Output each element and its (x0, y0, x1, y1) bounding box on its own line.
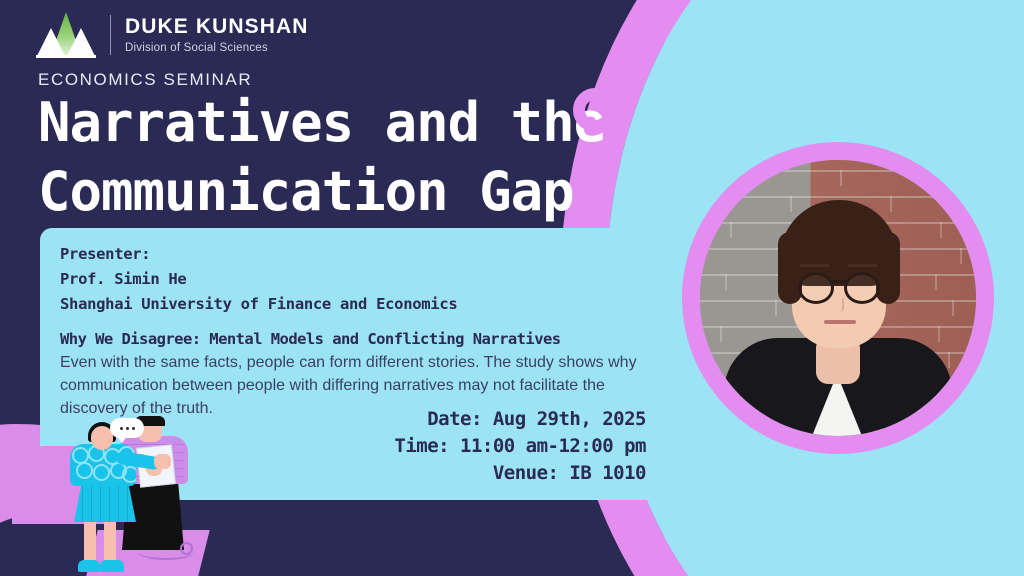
event-venue: Venue: IB 1010 (394, 460, 646, 487)
presenter-block: Presenter: Prof. Simin He Shanghai Unive… (60, 242, 646, 317)
duke-kunshan-mountain-logo-icon (36, 12, 96, 58)
event-time: Time: 11:00 am-12:00 pm (394, 433, 646, 460)
title-line-2: Communication Gap (38, 157, 638, 226)
presenter-label: Presenter: (60, 242, 646, 267)
eyebrow-label: ECONOMICS SEMINAR (38, 70, 252, 90)
glasses-icon (798, 272, 834, 304)
logo-divider (110, 15, 111, 55)
pink-ring-decoration-icon (573, 88, 617, 132)
brand-division: Division of Social Sciences (125, 42, 309, 54)
title-line-1: Narratives and the (38, 88, 638, 157)
brand-logo: DUKE KUNSHAN Division of Social Sciences (36, 12, 309, 58)
event-date: Date: Aug 29th, 2025 (394, 406, 646, 433)
page-title: Narratives and the Communication Gap (38, 88, 638, 226)
two-people-conversation-illustration-icon (34, 418, 204, 576)
talk-title: Why We Disagree: Mental Models and Confl… (60, 330, 646, 348)
brand-wordmark: DUKE KUNSHAN Division of Social Sciences (125, 16, 309, 53)
logistics-block: Date: Aug 29th, 2025 Time: 11:00 am-12:0… (394, 406, 646, 487)
speaker-portrait-photo-icon (700, 160, 976, 436)
glasses-icon (844, 272, 880, 304)
speech-bubble-icon (110, 418, 144, 438)
presenter-affiliation: Shanghai University of Finance and Econo… (60, 292, 646, 317)
brand-name: DUKE KUNSHAN (125, 16, 309, 38)
speaker-photo-ring (682, 142, 994, 454)
presenter-name: Prof. Simin He (60, 267, 646, 292)
seminar-poster: DUKE KUNSHAN Division of Social Sciences… (0, 0, 1024, 576)
